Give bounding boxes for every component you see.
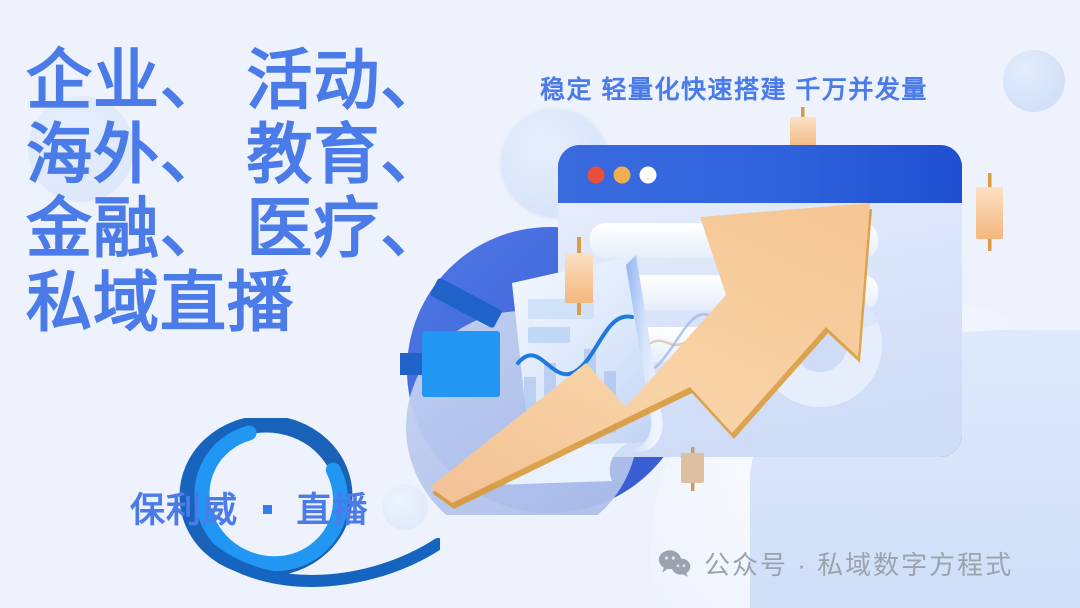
headline-line-2: 海外、 教育、 — [26, 118, 456, 192]
brand-separator-dot — [263, 505, 272, 514]
headline-line-1: 企业、 活动、 — [26, 44, 456, 118]
traffic-light-white — [640, 167, 657, 184]
hero-illustration — [400, 95, 1080, 515]
headline: 企业、 活动、 海外、 教育、 金融、 医疗、 私域直播 — [26, 44, 456, 340]
headline-line-3: 金融、 医疗、 — [26, 192, 456, 266]
candlestick-4 — [681, 447, 704, 491]
plug-body — [422, 331, 500, 397]
brand-name-text: 保利威 — [130, 491, 238, 530]
brand-logo-lockup: 保利威 直播 — [120, 418, 440, 608]
traffic-light-red — [588, 167, 605, 184]
brand-name: 保利威 直播 — [130, 482, 369, 533]
headline-line-4: 私域直播 — [26, 266, 456, 340]
promo-banner: 稳定 轻量化快速搭建 千万并发量 — [0, 0, 1080, 608]
footer-credit: 公众号 · 私域数字方程式 — [658, 545, 1013, 582]
wechat-icon — [658, 549, 692, 579]
candlestick-2 — [976, 173, 1003, 251]
footer-text: 公众号 · 私域数字方程式 — [704, 545, 1013, 582]
traffic-light-yellow — [614, 167, 631, 184]
tagline: 稳定 轻量化快速搭建 千万并发量 — [540, 70, 928, 106]
product-name-text: 直播 — [296, 491, 368, 530]
